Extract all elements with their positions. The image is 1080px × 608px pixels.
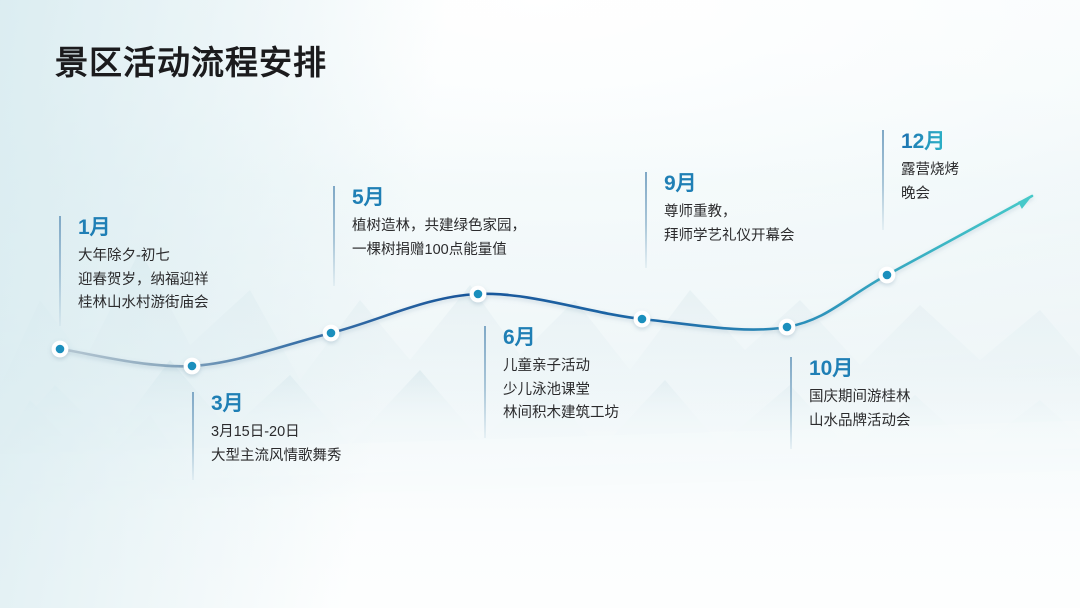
- milestone-line: 林间积木建筑工坊: [503, 402, 619, 425]
- milestone-month-label: 6月: [503, 326, 619, 349]
- milestone-month-label: 1月: [78, 216, 209, 239]
- milestone-rule: [333, 186, 335, 286]
- milestone-rule: [790, 357, 792, 449]
- milestone-line: 露营烧烤: [901, 159, 959, 182]
- milestone-content: 12月 露营烧烤晚会: [901, 130, 959, 206]
- milestone-month-label: 12月: [901, 130, 959, 153]
- milestone-line: 儿童亲子活动: [503, 355, 619, 378]
- milestone-line: 拜师学艺礼仪开幕会: [664, 225, 795, 248]
- milestone-content: 10月 国庆期间游桂林山水品牌活动会: [809, 357, 911, 433]
- milestone-line: 大型主流风情歌舞秀: [211, 445, 342, 468]
- milestone-line: 迎春贺岁，纳福迎祥: [78, 269, 209, 292]
- milestone-rule: [484, 326, 486, 438]
- page-title: 景区活动流程安排: [55, 36, 327, 84]
- milestone-content: 6月 儿童亲子活动少儿泳池课堂林间积木建筑工坊: [503, 326, 619, 426]
- milestone-rule: [192, 392, 194, 480]
- milestone-line: 晚会: [901, 183, 959, 206]
- milestone-month-label: 10月: [809, 357, 911, 380]
- milestone-rule: [59, 216, 61, 326]
- milestone-line: 国庆期间游桂林: [809, 386, 911, 409]
- milestone-content: 1月 大年除夕-初七迎春贺岁，纳福迎祥桂林山水村游街庙会: [78, 216, 209, 316]
- milestone-line: 一棵树捐赠100点能量值: [352, 239, 526, 262]
- milestone-line: 植树造林，共建绿色家园，: [352, 215, 526, 238]
- milestone-line: 桂林山水村游街庙会: [78, 292, 209, 315]
- milestone-rule: [882, 130, 884, 230]
- milestone-line: 山水品牌活动会: [809, 410, 911, 433]
- milestone-content: 5月 植树造林，共建绿色家园，一棵树捐赠100点能量值: [352, 186, 526, 262]
- milestone-month-label: 9月: [664, 172, 795, 195]
- slide-canvas: 景区活动流程安排: [0, 0, 1080, 608]
- milestone-line: 3月15日-20日: [211, 421, 342, 444]
- milestone-content: 9月 尊师重教，拜师学艺礼仪开幕会: [664, 172, 795, 248]
- milestone-line: 尊师重教，: [664, 201, 795, 224]
- milestone-line: 大年除夕-初七: [78, 245, 209, 268]
- milestone-month-label: 5月: [352, 186, 526, 209]
- milestone-line: 少儿泳池课堂: [503, 379, 619, 402]
- milestone-content: 3月 3月15日-20日大型主流风情歌舞秀: [211, 392, 342, 468]
- milestone-rule: [645, 172, 647, 268]
- milestone-month-label: 3月: [211, 392, 342, 415]
